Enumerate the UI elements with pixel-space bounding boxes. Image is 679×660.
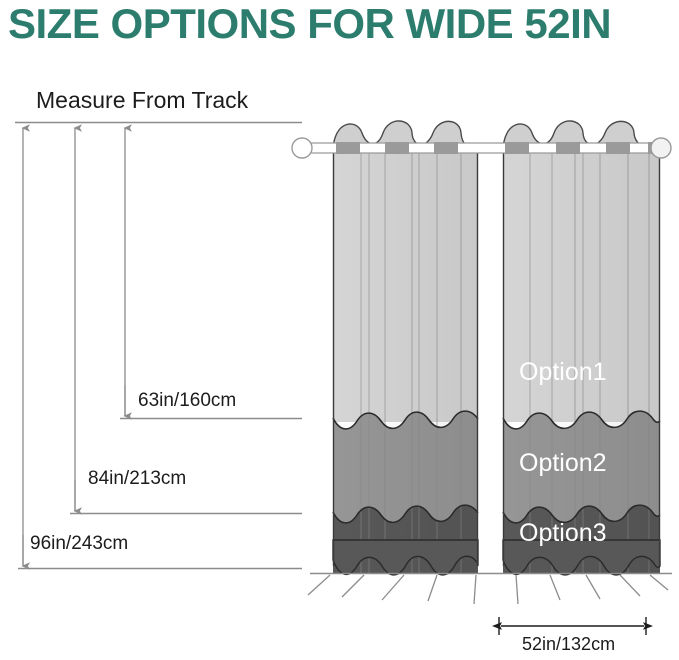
curtain-diagram-svg [0, 0, 679, 660]
option-label-2: Option2 [519, 449, 607, 477]
curtain-panel-right [503, 121, 660, 575]
rod-finial-left [292, 138, 312, 158]
option-label-1: Option1 [519, 358, 607, 386]
dimension-label-width: 52in/132cm [522, 633, 615, 655]
dimension-label-option2: 84in/213cm [88, 468, 186, 490]
dimension-label-option3: 96in/243cm [30, 533, 128, 555]
diagram-canvas: SIZE OPTIONS FOR WIDE 52IN Measure From … [0, 0, 679, 660]
option-label-3: Option3 [519, 519, 607, 547]
floor-line-and-hatching [308, 574, 672, 605]
rod-finial-right [651, 138, 671, 158]
dimension-label-option1: 63in/160cm [138, 390, 236, 412]
curtain-panel-left [333, 121, 478, 575]
vertical-dimension-arrows [23, 128, 125, 566]
